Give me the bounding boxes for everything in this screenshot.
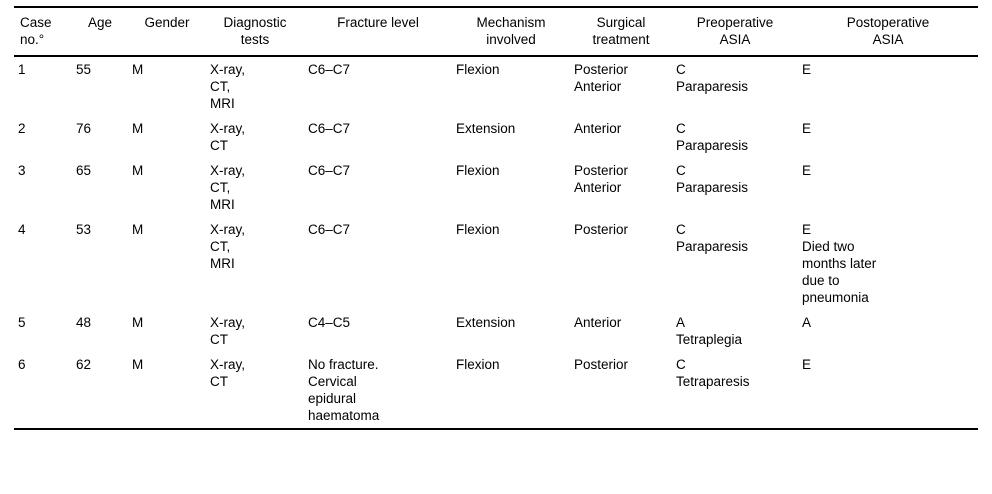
cell-surgical-treatment: Anterior [570, 116, 672, 158]
cell-value: A [802, 314, 974, 331]
column-header-case-no: Case no.° [14, 7, 72, 56]
cell-value: Flexion [456, 356, 566, 373]
cell-preoperative-asia: C Paraparesis [672, 116, 798, 158]
cell-value: M [132, 221, 202, 238]
clinical-case-table: Case no.° Age Gender Diagnostic tests Fr… [14, 6, 978, 430]
cell-surgical-treatment: Posterior Anterior [570, 56, 672, 116]
column-header-surgical-treatment-line2: treatment [574, 31, 668, 48]
cell-value: M [132, 356, 202, 373]
cell-value: M [132, 314, 202, 331]
cell-value: E [802, 61, 974, 78]
cell-value: No fracture. Cervical epidural haematoma [308, 356, 448, 424]
cell-value: C Tetraparesis [676, 356, 794, 390]
cell-value: C6–C7 [308, 61, 448, 78]
table-row: 6 62 M X-ray, CT No fracture. Cervical e… [14, 352, 978, 429]
cell-surgical-treatment: Posterior [570, 217, 672, 310]
column-header-gender-line1: Gender [132, 14, 202, 31]
cell-mechanism-involved: Flexion [452, 217, 570, 310]
cell-preoperative-asia: C Paraparesis [672, 158, 798, 217]
cell-fracture-level: C6–C7 [304, 217, 452, 310]
cell-value: 1 [18, 61, 68, 78]
cell-value: C6–C7 [308, 120, 448, 137]
cell-value: Extension [456, 120, 566, 137]
cell-preoperative-asia: C Paraparesis [672, 56, 798, 116]
cell-value: Anterior [574, 120, 668, 137]
cell-value: Anterior [574, 314, 668, 331]
column-header-diagnostic-tests-line1: Diagnostic [210, 14, 300, 31]
cell-value: M [132, 120, 202, 137]
cell-gender: M [128, 116, 206, 158]
cell-case-no: 6 [14, 352, 72, 429]
cell-fracture-level: C6–C7 [304, 116, 452, 158]
cell-value: C6–C7 [308, 221, 448, 238]
cell-diagnostic-tests: X-ray, CT [206, 116, 304, 158]
column-header-surgical-treatment-line1: Surgical [574, 14, 668, 31]
cell-value: M [132, 162, 202, 179]
cell-gender: M [128, 217, 206, 310]
cell-value: 3 [18, 162, 68, 179]
column-header-case-no-line2: no.° [20, 31, 68, 48]
column-header-fracture-level-line1: Fracture level [308, 14, 448, 31]
cell-value: 62 [76, 356, 124, 373]
cell-gender: M [128, 56, 206, 116]
table-row: 5 48 M X-ray, CT C4–C5 Extension Anterio… [14, 310, 978, 352]
cell-gender: M [128, 158, 206, 217]
cell-mechanism-involved: Extension [452, 310, 570, 352]
cell-diagnostic-tests: X-ray, CT, MRI [206, 158, 304, 217]
cell-value: 4 [18, 221, 68, 238]
cell-value: 55 [76, 61, 124, 78]
cell-mechanism-involved: Flexion [452, 352, 570, 429]
cell-value: C Paraparesis [676, 162, 794, 196]
cell-value: Flexion [456, 61, 566, 78]
column-header-preoperative-asia: Preoperative ASIA [672, 7, 798, 56]
cell-mechanism-involved: Flexion [452, 158, 570, 217]
table-row: 3 65 M X-ray, CT, MRI C6–C7 Flexion Post… [14, 158, 978, 217]
cell-value: C4–C5 [308, 314, 448, 331]
cell-value: E [802, 356, 974, 373]
cell-case-no: 5 [14, 310, 72, 352]
table-row: 2 76 M X-ray, CT C6–C7 Extension Anterio… [14, 116, 978, 158]
table-body: 1 55 M X-ray, CT, MRI C6–C7 Flexion Post… [14, 56, 978, 429]
cell-preoperative-asia: C Tetraparesis [672, 352, 798, 429]
cell-case-no: 3 [14, 158, 72, 217]
table-row: 1 55 M X-ray, CT, MRI C6–C7 Flexion Post… [14, 56, 978, 116]
cell-surgical-treatment: Posterior [570, 352, 672, 429]
cell-fracture-level: C4–C5 [304, 310, 452, 352]
cell-preoperative-asia: C Paraparesis [672, 217, 798, 310]
cell-age: 53 [72, 217, 128, 310]
cell-value: Posterior [574, 356, 668, 373]
cell-preoperative-asia: A Tetraplegia [672, 310, 798, 352]
cell-value: A Tetraplegia [676, 314, 794, 348]
cell-surgical-treatment: Anterior [570, 310, 672, 352]
column-header-mechanism-involved-line2: involved [456, 31, 566, 48]
column-header-mechanism-involved-line1: Mechanism [456, 14, 566, 31]
column-header-preoperative-asia-line2: ASIA [676, 31, 794, 48]
table-row: 4 53 M X-ray, CT, MRI C6–C7 Flexion Post… [14, 217, 978, 310]
column-header-fracture-level: Fracture level [304, 7, 452, 56]
column-header-postoperative-asia-line2: ASIA [802, 31, 974, 48]
cell-value: X-ray, CT, MRI [210, 162, 300, 213]
cell-value: C Paraparesis [676, 61, 794, 95]
column-header-mechanism-involved: Mechanism involved [452, 7, 570, 56]
cell-diagnostic-tests: X-ray, CT [206, 310, 304, 352]
cell-value: X-ray, CT [210, 120, 300, 154]
cell-value: C6–C7 [308, 162, 448, 179]
cell-value: 53 [76, 221, 124, 238]
cell-value: X-ray, CT, MRI [210, 61, 300, 112]
cell-value: 6 [18, 356, 68, 373]
cell-value: 76 [76, 120, 124, 137]
cell-mechanism-involved: Extension [452, 116, 570, 158]
cell-case-no: 4 [14, 217, 72, 310]
cell-fracture-level: C6–C7 [304, 158, 452, 217]
cell-value: 65 [76, 162, 124, 179]
cell-value: Extension [456, 314, 566, 331]
cell-age: 48 [72, 310, 128, 352]
cell-case-no: 2 [14, 116, 72, 158]
cell-value: Flexion [456, 162, 566, 179]
cell-value: X-ray, CT, MRI [210, 221, 300, 272]
cell-age: 76 [72, 116, 128, 158]
cell-diagnostic-tests: X-ray, CT [206, 352, 304, 429]
cell-value: M [132, 61, 202, 78]
cell-value: X-ray, CT [210, 356, 300, 390]
cell-value: E Died two months later due to pneumonia [802, 221, 974, 306]
cell-postoperative-asia: E [798, 56, 978, 116]
cell-value: Posterior [574, 221, 668, 238]
cell-gender: M [128, 352, 206, 429]
column-header-age-line1: Age [76, 14, 124, 31]
cell-age: 62 [72, 352, 128, 429]
header-row: Case no.° Age Gender Diagnostic tests Fr… [14, 7, 978, 56]
cell-age: 65 [72, 158, 128, 217]
cell-gender: M [128, 310, 206, 352]
column-header-postoperative-asia: Postoperative ASIA [798, 7, 978, 56]
cell-mechanism-involved: Flexion [452, 56, 570, 116]
cell-postoperative-asia: E [798, 116, 978, 158]
cell-value: 48 [76, 314, 124, 331]
column-header-age: Age [72, 7, 128, 56]
cell-value: E [802, 162, 974, 179]
cell-postoperative-asia: A [798, 310, 978, 352]
cell-value: Posterior Anterior [574, 162, 668, 196]
column-header-diagnostic-tests: Diagnostic tests [206, 7, 304, 56]
cell-value: 5 [18, 314, 68, 331]
cell-surgical-treatment: Posterior Anterior [570, 158, 672, 217]
column-header-preoperative-asia-line1: Preoperative [676, 14, 794, 31]
cell-value: C Paraparesis [676, 120, 794, 154]
cell-value: Flexion [456, 221, 566, 238]
cell-postoperative-asia: E Died two months later due to pneumonia [798, 217, 978, 310]
column-header-gender: Gender [128, 7, 206, 56]
cell-age: 55 [72, 56, 128, 116]
cell-value: X-ray, CT [210, 314, 300, 348]
cell-diagnostic-tests: X-ray, CT, MRI [206, 56, 304, 116]
case-table-container: Case no.° Age Gender Diagnostic tests Fr… [14, 6, 978, 430]
table-header: Case no.° Age Gender Diagnostic tests Fr… [14, 7, 978, 56]
cell-value: 2 [18, 120, 68, 137]
column-header-diagnostic-tests-line2: tests [210, 31, 300, 48]
column-header-case-no-line1: Case [20, 14, 68, 31]
cell-case-no: 1 [14, 56, 72, 116]
cell-fracture-level: C6–C7 [304, 56, 452, 116]
cell-value: E [802, 120, 974, 137]
column-header-surgical-treatment: Surgical treatment [570, 7, 672, 56]
cell-value: C Paraparesis [676, 221, 794, 255]
cell-value: Posterior Anterior [574, 61, 668, 95]
column-header-postoperative-asia-line1: Postoperative [802, 14, 974, 31]
cell-fracture-level: No fracture. Cervical epidural haematoma [304, 352, 452, 429]
cell-diagnostic-tests: X-ray, CT, MRI [206, 217, 304, 310]
cell-postoperative-asia: E [798, 158, 978, 217]
cell-postoperative-asia: E [798, 352, 978, 429]
